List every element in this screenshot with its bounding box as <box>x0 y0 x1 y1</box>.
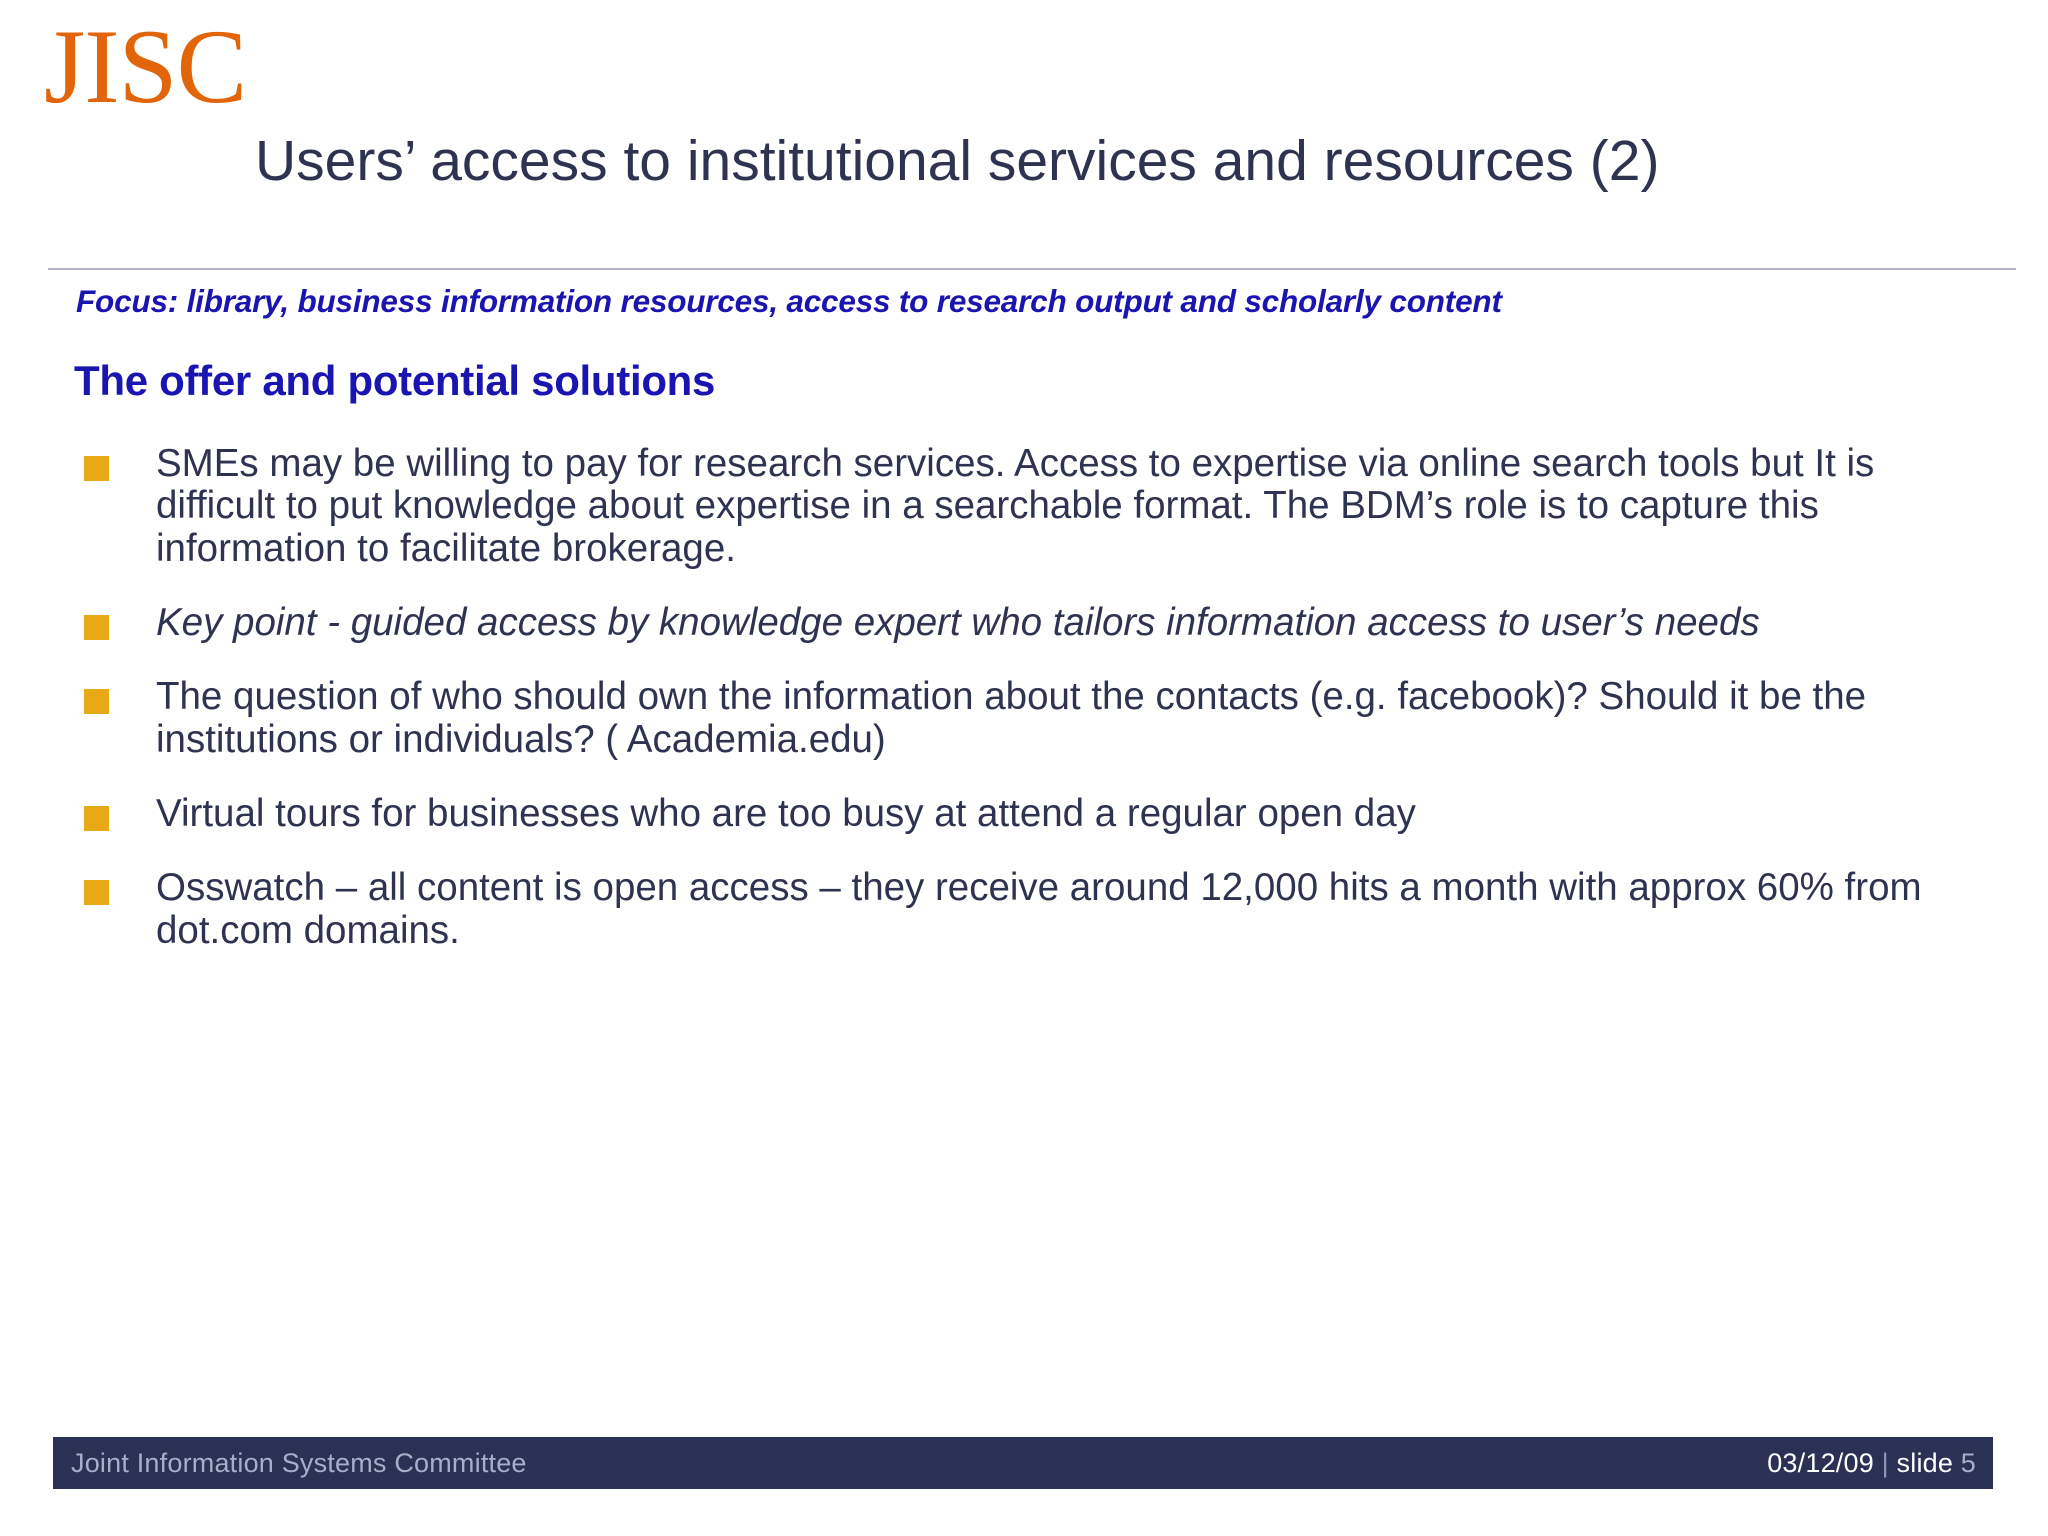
slide: JISC Users’ access to institutional serv… <box>0 0 2048 1536</box>
header-divider <box>48 268 2016 270</box>
jisc-logo: JISC <box>44 14 246 120</box>
list-item: The question of who should own the infor… <box>74 676 1984 761</box>
square-bullet-icon <box>84 689 109 714</box>
slide-footer: Joint Information Systems Committee 03/1… <box>53 1437 1993 1489</box>
list-item-text: SMEs may be willing to pay for research … <box>156 443 1984 570</box>
focus-statement: Focus: library, business information res… <box>76 283 2006 320</box>
footer-date: 03/12/09 <box>1767 1448 1874 1478</box>
section-heading: The offer and potential solutions <box>74 357 715 405</box>
footer-slide-info: 03/12/09 | slide 5 <box>1767 1448 1976 1479</box>
footer-slide-number: 5 <box>1961 1448 1976 1478</box>
list-item-text: Key point - guided access by knowledge e… <box>156 602 1984 644</box>
footer-organisation: Joint Information Systems Committee <box>71 1448 527 1479</box>
square-bullet-icon <box>84 615 109 640</box>
footer-slide-label: slide <box>1897 1448 1961 1478</box>
square-bullet-icon <box>84 880 109 905</box>
list-item-text: Virtual tours for businesses who are too… <box>156 793 1984 835</box>
list-item-text: The question of who should own the infor… <box>156 676 1984 761</box>
list-item: Virtual tours for businesses who are too… <box>74 793 1984 835</box>
square-bullet-icon <box>84 456 109 481</box>
list-item-text: Osswatch – all content is open access – … <box>156 867 1984 952</box>
page-title: Users’ access to institutional services … <box>255 132 2015 192</box>
list-item: Osswatch – all content is open access – … <box>74 867 1984 952</box>
list-item: SMEs may be willing to pay for research … <box>74 443 1984 570</box>
footer-separator: | <box>1874 1448 1897 1478</box>
bullet-list: SMEs may be willing to pay for research … <box>74 443 1984 984</box>
list-item: Key point - guided access by knowledge e… <box>74 602 1984 644</box>
square-bullet-icon <box>84 806 109 831</box>
